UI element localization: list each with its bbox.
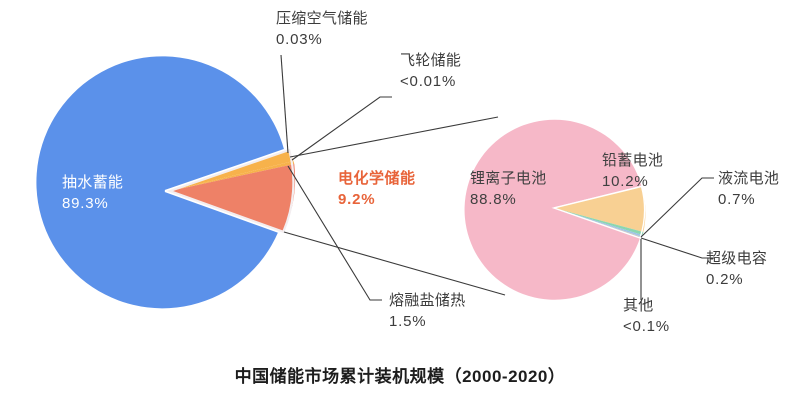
- label-molten-salt: 熔融盐储热 1.5%: [389, 290, 466, 332]
- label-pumped-hydro: 抽水蓄能 89.3%: [62, 172, 123, 214]
- chart-title: 中国储能市场累计装机规模（2000-2020）: [0, 362, 800, 387]
- label-lithium-ion: 锂离子电池 88.8%: [470, 168, 547, 210]
- label-flow-battery-pct: 0.7%: [718, 189, 779, 210]
- label-supercapacitor-name: 超级电容: [706, 250, 767, 267]
- label-lithium-ion-pct: 88.8%: [470, 189, 547, 210]
- label-flow-battery: 液流电池 0.7%: [718, 168, 779, 210]
- chart-canvas: 抽水蓄能 89.3% 压缩空气储能 0.03% 飞轮储能 <0.01% 电化学储…: [0, 0, 800, 400]
- leader-flywheel: [292, 97, 392, 160]
- label-molten-salt-pct: 1.5%: [389, 311, 466, 332]
- label-pumped-hydro-name: 抽水蓄能: [62, 174, 123, 191]
- label-supercapacitor: 超级电容 0.2%: [706, 248, 767, 290]
- label-compressed-air-pct: 0.03%: [276, 29, 368, 50]
- label-flow-battery-name: 液流电池: [718, 170, 779, 187]
- label-other-name: 其他: [623, 297, 654, 314]
- leader-supercapacitor: [641, 238, 714, 258]
- label-molten-salt-name: 熔融盐储热: [389, 292, 466, 309]
- label-lead-acid-name: 铅蓄电池: [602, 152, 663, 169]
- label-lithium-ion-name: 锂离子电池: [470, 170, 547, 187]
- connector-line-top: [290, 117, 498, 157]
- label-compressed-air: 压缩空气储能 0.03%: [276, 8, 368, 50]
- label-compressed-air-name: 压缩空气储能: [276, 10, 368, 27]
- label-electrochemical-pct: 9.2%: [338, 189, 416, 210]
- label-flywheel: 飞轮储能 <0.01%: [400, 50, 461, 92]
- label-other-pct: <0.1%: [623, 316, 670, 337]
- label-lead-acid-pct: 10.2%: [602, 171, 663, 192]
- label-supercapacitor-pct: 0.2%: [706, 269, 767, 290]
- right-leader-lines: [641, 178, 714, 300]
- label-flywheel-name: 飞轮储能: [400, 52, 461, 69]
- label-electrochemical-name: 电化学储能: [338, 170, 416, 187]
- leader-compressed-air: [281, 55, 288, 153]
- label-other: 其他 <0.1%: [623, 295, 670, 337]
- label-pumped-hydro-pct: 89.3%: [62, 193, 123, 214]
- label-flywheel-pct: <0.01%: [400, 71, 461, 92]
- label-lead-acid: 铅蓄电池 10.2%: [602, 150, 663, 192]
- label-electrochemical: 电化学储能 9.2%: [338, 168, 416, 210]
